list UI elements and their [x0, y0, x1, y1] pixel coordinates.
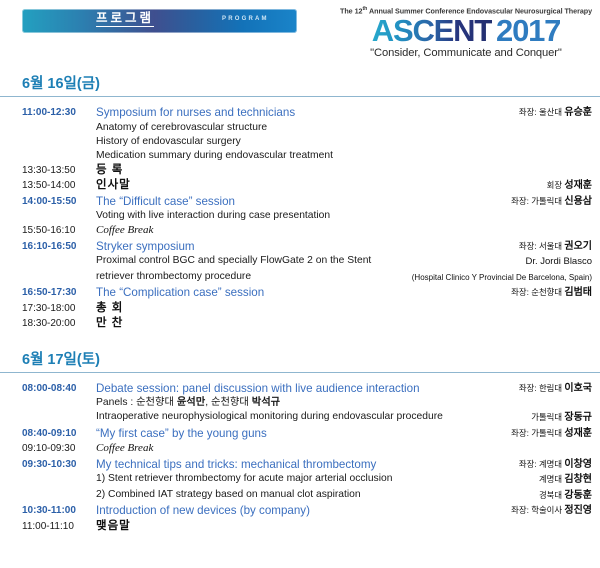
- row-title-cell: 등 록: [96, 163, 592, 179]
- schedule-row[interactable]: 13:50-14:00인사말회장 성재훈: [0, 178, 600, 194]
- session-title: The “Difficult case” session: [96, 194, 505, 210]
- subrow-text-cell: History of endovascular surgery: [96, 135, 592, 149]
- row-title: 총 회: [96, 301, 586, 317]
- row-title-cell: Coffee Break: [96, 223, 592, 239]
- chair-affiliation: 좌장: 가톨릭대: [511, 196, 564, 206]
- speaker-institution: (Hospital Clinico Y Provincial De Barcel…: [412, 273, 592, 282]
- schedule-row[interactable]: 17:30-18:00총 회: [0, 301, 600, 317]
- row-chair: 좌장: 서울대 권오기: [519, 239, 592, 255]
- schedule-subrow: Proximal control BGC and specially FlowG…: [0, 254, 600, 270]
- row-time: 15:50-16:10: [22, 223, 96, 239]
- row-title-cell: Stryker symposium: [96, 239, 519, 255]
- day-spacer: [0, 332, 600, 348]
- day-heading-rule: [0, 96, 600, 97]
- chair-affiliation: 좌장: 계명대: [519, 459, 565, 469]
- speaker-affiliation: 계명대: [539, 474, 564, 484]
- chair-affiliation: 좌장: 울산대: [519, 107, 565, 117]
- row-chair: 좌장: 학술이사 정진영: [511, 503, 592, 519]
- day-heading-rule: [0, 372, 600, 373]
- row-time: 11:00-11:10: [22, 519, 96, 535]
- subrow-text-cell: Panels : 순천향대 윤석만, 순천향대 박석규: [96, 396, 592, 410]
- logo-slogan: "Consider, Communicate and Conquer": [340, 47, 592, 59]
- row-title: 만 찬: [96, 316, 586, 332]
- row-time: 17:30-18:00: [22, 301, 96, 317]
- subrow-text-cell: 2) Combined IAT strategy based on manual…: [96, 488, 539, 502]
- day-block-2: 6월 17일(토)08:00-08:40Debate session: pane…: [0, 332, 600, 535]
- row-chair: 좌장: 한림대 이호국: [519, 381, 592, 397]
- session-title: Symposium for nurses and technicians: [96, 105, 513, 121]
- row-time: 08:00-08:40: [22, 381, 96, 397]
- row-title: 맺음말: [96, 519, 586, 535]
- session-title: “My first case” by the young guns: [96, 426, 505, 442]
- chair-name: 정진영: [564, 505, 592, 516]
- logo-top-pre: The 12: [340, 6, 362, 15]
- row-title-cell: Symposium for nurses and technicians: [96, 105, 519, 121]
- row-title: 인사말: [96, 178, 541, 194]
- subrow-text-cell: Intraoperative neurophysiological monito…: [96, 410, 531, 424]
- schedule-subrow: 2) Combined IAT strategy based on manual…: [0, 488, 600, 504]
- schedule-row[interactable]: 14:00-15:50The “Difficult case” session좌…: [0, 194, 600, 210]
- subrow-text-cell: 1) Stent retriever thrombectomy for acut…: [96, 472, 539, 486]
- session-title: Stryker symposium: [96, 239, 513, 255]
- schedule-subrow: Anatomy of cerebrovascular structure: [0, 121, 600, 135]
- day-heading: 6월 17일(토): [0, 348, 600, 372]
- chair-name: 신용삼: [564, 196, 592, 207]
- subrow-speaker: 가톨릭대 장동규: [531, 410, 592, 426]
- row-chair: 회장 성재훈: [547, 178, 592, 194]
- logo-year: 2017: [496, 13, 560, 48]
- speaker-name: Dr. Jordi Blasco: [525, 256, 592, 267]
- row-time: 10:30-11:00: [22, 503, 96, 519]
- row-title-cell: 인사말: [96, 178, 547, 194]
- speaker-name: 김창현: [564, 474, 592, 485]
- schedule-subrow: History of endovascular surgery: [0, 135, 600, 149]
- schedule-row[interactable]: 18:30-20:00만 찬: [0, 316, 600, 332]
- row-title-cell: Introduction of new devices (by company): [96, 503, 511, 519]
- subrow-text: retriever thrombectomy procedure: [96, 270, 406, 284]
- schedule-row[interactable]: 11:00-12:30Symposium for nurses and tech…: [0, 105, 600, 121]
- day-block-1: 6월 16일(금)11:00-12:30Symposium for nurses…: [0, 66, 600, 332]
- day-rows: 08:00-08:40Debate session: panel discuss…: [0, 381, 600, 535]
- schedule-row[interactable]: 08:00-08:40Debate session: panel discuss…: [0, 381, 600, 397]
- session-title: Introduction of new devices (by company): [96, 503, 505, 519]
- logo-name: ASCENT: [372, 13, 492, 48]
- chair-affiliation: 좌장: 서울대: [519, 241, 565, 251]
- coffee-break-label: Coffee Break: [96, 223, 586, 239]
- subrow-text-cell: Voting with live interaction during case…: [96, 209, 592, 223]
- chair-name: 이창영: [564, 459, 592, 470]
- speaker-affiliation: 가톨릭대: [531, 412, 564, 422]
- subrow-speaker: 계명대 김창현: [539, 472, 592, 488]
- subrow-text-cell: retriever thrombectomy procedure: [96, 270, 412, 284]
- chair-name: 성재훈: [564, 180, 592, 191]
- speaker-name: 강동훈: [564, 490, 592, 501]
- subrow-text: Anatomy of cerebrovascular structure: [96, 121, 586, 135]
- row-time: 14:00-15:50: [22, 194, 96, 210]
- row-chair: 좌장: 순천향대 김범태: [511, 285, 592, 301]
- subrow-speaker: Dr. Jordi Blasco: [525, 254, 592, 270]
- schedule-row[interactable]: 09:10-09:30Coffee Break: [0, 441, 600, 457]
- chair-affiliation: 좌장: 가톨릭대: [511, 428, 564, 438]
- banner-title: 프로그램: [96, 12, 154, 27]
- row-chair: 좌장: 계명대 이창영: [519, 457, 592, 473]
- subrow-text: Voting with live interaction during case…: [96, 209, 586, 223]
- schedule-row[interactable]: 16:10-16:50Stryker symposium좌장: 서울대 권오기: [0, 239, 600, 255]
- subrow-text: History of endovascular surgery: [96, 135, 586, 149]
- schedule-subrow: Medication summary during endovascular t…: [0, 149, 600, 163]
- row-time: 16:10-16:50: [22, 239, 96, 255]
- subrow-text: 1) Stent retriever thrombectomy for acut…: [96, 472, 533, 486]
- schedule-row[interactable]: 11:00-11:10맺음말: [0, 519, 600, 535]
- day-heading: 6월 16일(금): [0, 72, 600, 96]
- chair-name: 이호국: [564, 383, 592, 394]
- subrow-text-cell: Anatomy of cerebrovascular structure: [96, 121, 592, 135]
- schedule-subrow: Panels : 순천향대 윤석만, 순천향대 박석규: [0, 396, 600, 410]
- subrow-text: Proximal control BGC and specially FlowG…: [96, 254, 519, 268]
- conference-logo: The 12th Annual Summer Conference Endova…: [340, 6, 592, 59]
- row-title: 등 록: [96, 163, 586, 179]
- row-time: 09:30-10:30: [22, 457, 96, 473]
- page-header: 프로그램 PROGRAM The 12th Annual Summer Conf…: [0, 0, 600, 66]
- subrow-speaker: 경북대 강동훈: [539, 488, 592, 504]
- subrow-text: Panels : 순천향대 윤석만, 순천향대 박석규: [96, 396, 586, 410]
- speaker-name: 장동규: [564, 412, 592, 423]
- chair-name: 성재훈: [564, 428, 592, 439]
- subrow-speaker: (Hospital Clinico Y Provincial De Barcel…: [412, 270, 592, 286]
- row-title-cell: The “Difficult case” session: [96, 194, 511, 210]
- chair-affiliation: 좌장: 한림대: [519, 383, 565, 393]
- program-schedule: 6월 16일(금)11:00-12:30Symposium for nurses…: [0, 66, 600, 534]
- subrow-text-cell: Medication summary during endovascular t…: [96, 149, 592, 163]
- session-title: My technical tips and tricks: mechanical…: [96, 457, 513, 473]
- day-rows: 11:00-12:30Symposium for nurses and tech…: [0, 105, 600, 332]
- session-title: Debate session: panel discussion with li…: [96, 381, 513, 397]
- subrow-text: 2) Combined IAT strategy based on manual…: [96, 488, 533, 502]
- row-time: 08:40-09:10: [22, 426, 96, 442]
- schedule-subrow: 1) Stent retriever thrombectomy for acut…: [0, 472, 600, 488]
- schedule-row[interactable]: 16:50-17:30The “Complication case” sessi…: [0, 285, 600, 301]
- schedule-row[interactable]: 13:30-13:50등 록: [0, 163, 600, 179]
- row-title-cell: Debate session: panel discussion with li…: [96, 381, 519, 397]
- row-time: 16:50-17:30: [22, 285, 96, 301]
- row-time: 18:30-20:00: [22, 316, 96, 332]
- row-chair: 좌장: 가톨릭대 신용삼: [511, 194, 592, 210]
- row-time: 09:10-09:30: [22, 441, 96, 457]
- schedule-subrow: Voting with live interaction during case…: [0, 209, 600, 223]
- schedule-subrow: Intraoperative neurophysiological monito…: [0, 410, 600, 426]
- schedule-row[interactable]: 09:30-10:30My technical tips and tricks:…: [0, 457, 600, 473]
- row-title-cell: The “Complication case” session: [96, 285, 511, 301]
- coffee-break-label: Coffee Break: [96, 441, 586, 457]
- row-title-cell: 만 찬: [96, 316, 592, 332]
- speaker-affiliation: 경북대: [539, 490, 564, 500]
- row-title-cell: My technical tips and tricks: mechanical…: [96, 457, 519, 473]
- row-time: 11:00-12:30: [22, 105, 96, 121]
- chair-affiliation: 좌장: 학술이사: [511, 505, 564, 515]
- chair-name: 김범태: [564, 287, 592, 298]
- schedule-row[interactable]: 10:30-11:00Introduction of new devices (…: [0, 503, 600, 519]
- schedule-row[interactable]: 15:50-16:10Coffee Break: [0, 223, 600, 239]
- subrow-text: Medication summary during endovascular t…: [96, 149, 586, 163]
- banner-subtitle: PROGRAM: [222, 16, 269, 22]
- chair-affiliation: 회장: [547, 180, 565, 190]
- session-title: The “Complication case” session: [96, 285, 505, 301]
- chair-affiliation: 좌장: 순천향대: [511, 287, 564, 297]
- row-chair: 좌장: 가톨릭대 성재훈: [511, 426, 592, 442]
- schedule-row[interactable]: 08:40-09:10“My first case” by the young …: [0, 426, 600, 442]
- logo-wordmark: ASCENT2017: [340, 16, 592, 46]
- row-time: 13:30-13:50: [22, 163, 96, 179]
- row-title-cell: 총 회: [96, 301, 592, 317]
- row-title-cell: Coffee Break: [96, 441, 592, 457]
- row-title-cell: 맺음말: [96, 519, 592, 535]
- subrow-text-cell: Proximal control BGC and specially FlowG…: [96, 254, 525, 268]
- row-time: 13:50-14:00: [22, 178, 96, 194]
- chair-name: 권오기: [564, 241, 592, 252]
- chair-name: 유승훈: [564, 107, 592, 118]
- subrow-text: Intraoperative neurophysiological monito…: [96, 410, 525, 424]
- row-chair: 좌장: 울산대 유승훈: [519, 105, 592, 121]
- row-title-cell: “My first case” by the young guns: [96, 426, 511, 442]
- schedule-subrow: retriever thrombectomy procedure(Hospita…: [0, 270, 600, 286]
